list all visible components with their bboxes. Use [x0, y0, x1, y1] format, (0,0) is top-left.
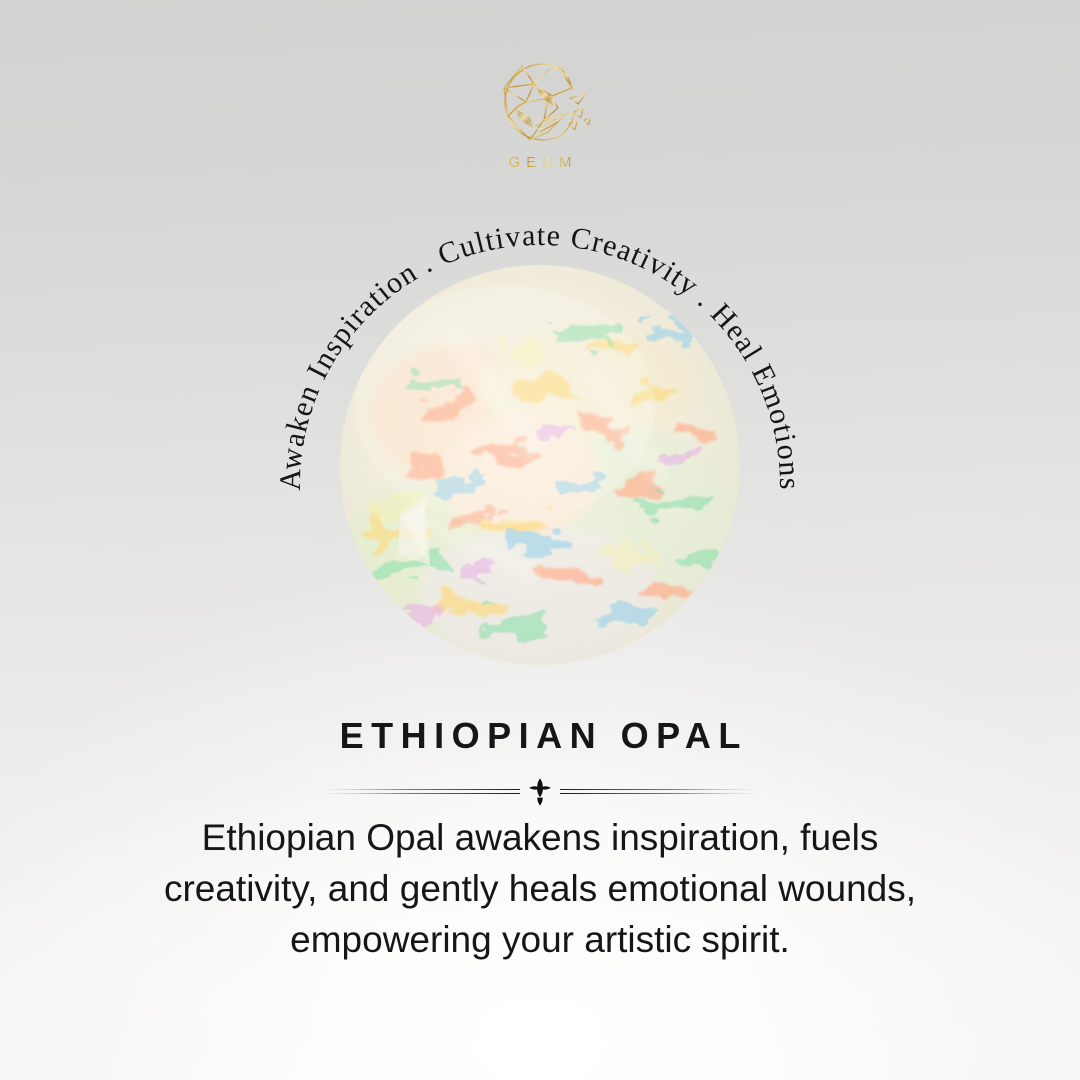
ornamental-divider	[320, 775, 760, 809]
gemstone-title: ETHIOPIAN OPAL	[0, 715, 1080, 757]
gemstone-info-card: GEUM	[0, 0, 1080, 1080]
divider-rule-right	[560, 787, 760, 797]
divider-rule-left	[320, 787, 520, 797]
fleuron-ornament-icon	[525, 777, 555, 807]
faceted-gem-logo-icon	[486, 58, 594, 150]
arc-tagline-text: Awaken Inspiration . Cultivate Creativit…	[274, 219, 806, 491]
brand-name: GEUM	[503, 154, 578, 171]
gemstone-description: Ethiopian Opal awakens inspiration, fuel…	[160, 812, 920, 965]
brand-logo: GEUM	[0, 58, 1080, 171]
gemstone-hero: Awaken Inspiration . Cultivate Creativit…	[260, 185, 820, 745]
arc-tagline: Awaken Inspiration . Cultivate Creativit…	[260, 185, 820, 745]
